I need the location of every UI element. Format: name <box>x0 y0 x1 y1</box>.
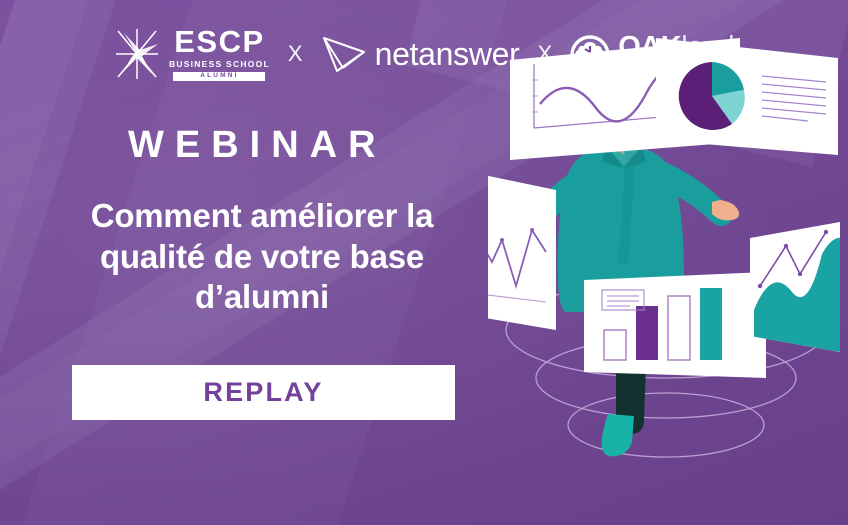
illustration-man-with-charts <box>488 0 848 525</box>
kicker-webinar: WEBINAR <box>128 126 387 164</box>
logo-separator-1: X <box>288 41 303 67</box>
area-chart-document <box>750 222 842 352</box>
shoe <box>602 414 634 456</box>
zigzag-chart-document <box>488 168 556 330</box>
replay-button[interactable]: REPLAY <box>72 365 455 420</box>
escp-name: ESCP <box>174 26 264 57</box>
pie-chart-document <box>656 38 838 155</box>
webinar-banner: ESCP BUSINESS SCHOOL ALUMNI X netanswer … <box>0 0 848 525</box>
escp-star-icon <box>114 27 160 81</box>
bar-2 <box>636 306 658 360</box>
bar-4 <box>700 288 722 360</box>
escp-subtitle: BUSINESS SCHOOL <box>169 60 270 69</box>
bar-chart-document <box>584 272 766 378</box>
escp-alumni-badge: ALUMNI <box>173 72 265 82</box>
headline: Comment améliorer la qualité de votre ba… <box>56 196 468 318</box>
logo-escp: ESCP BUSINESS SCHOOL ALUMNI <box>114 26 270 81</box>
escp-wordmark: ESCP BUSINESS SCHOOL ALUMNI <box>169 26 270 81</box>
netanswer-arrow-icon <box>321 34 367 74</box>
replay-button-label: REPLAY <box>203 377 323 408</box>
